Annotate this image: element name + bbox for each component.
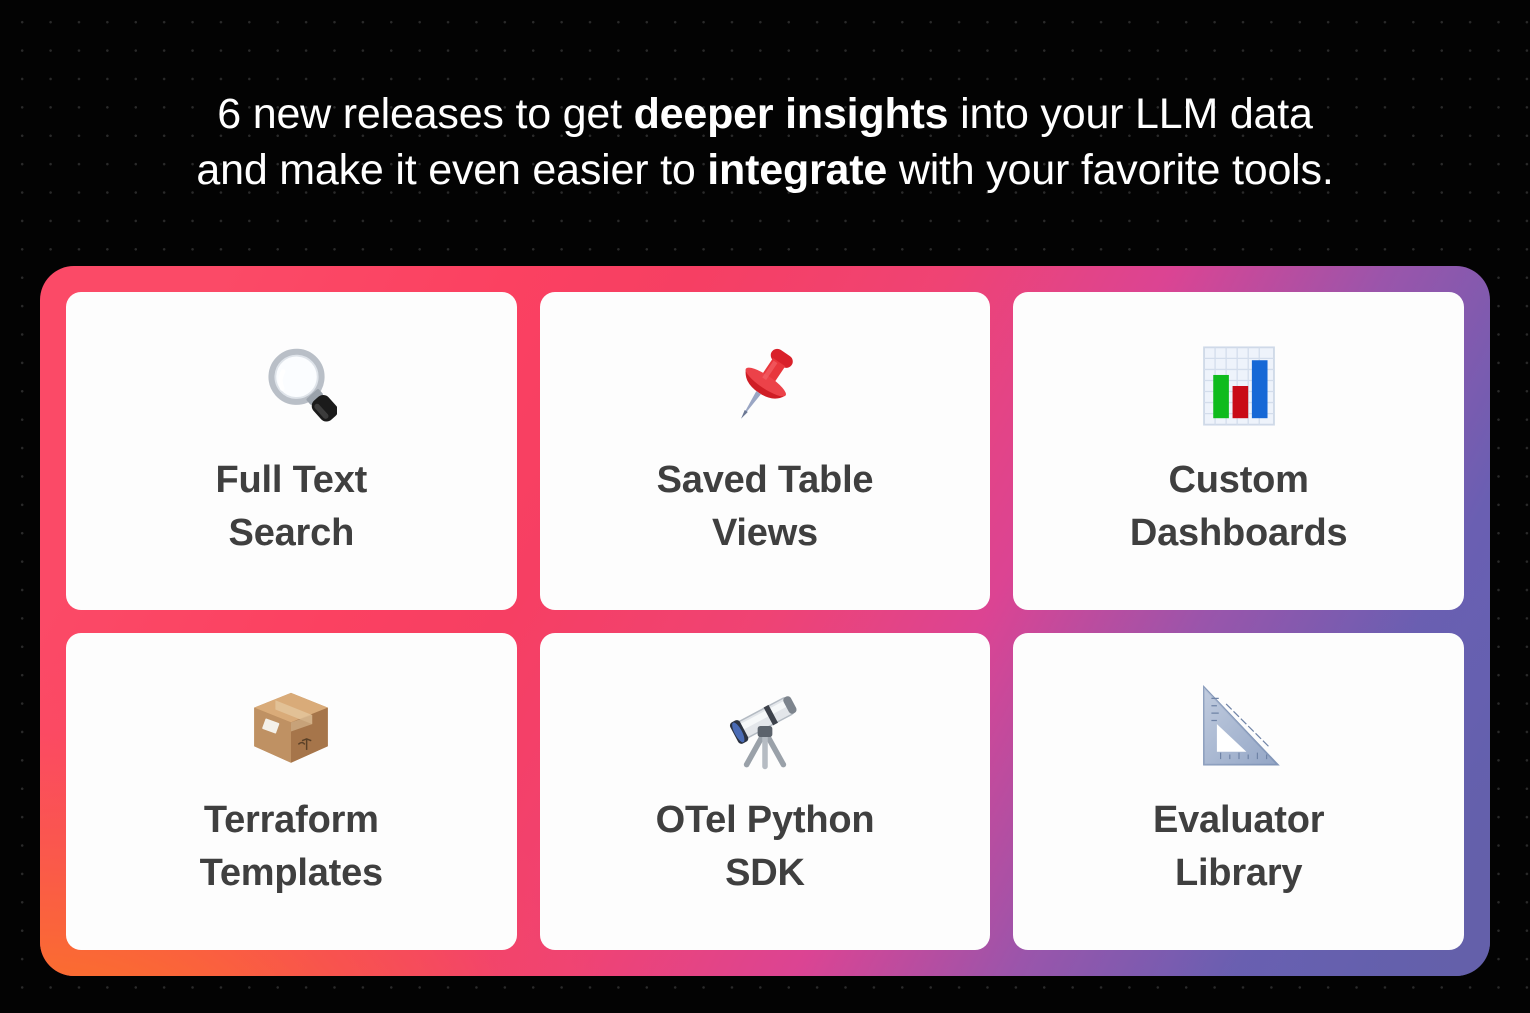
feature-card-evaluator-library[interactable]: Evaluator Library <box>1013 633 1464 951</box>
feature-card-full-text-search[interactable]: Full Text Search <box>66 292 517 610</box>
pushpin-icon <box>719 334 811 438</box>
headline-line-2-prefix: and make it even easier to <box>196 146 707 194</box>
headline-line-2-suffix: with your favorite tools. <box>887 146 1334 194</box>
headline-emphasis-integrate: integrate <box>707 146 887 194</box>
feature-grid: Full Text Search <box>66 292 1464 950</box>
feature-label: Terraform Templates <box>200 794 383 900</box>
feature-panel: Full Text Search <box>40 266 1490 976</box>
feature-card-saved-table-views[interactable]: Saved Table Views <box>540 292 991 610</box>
magnifying-glass-icon <box>245 334 337 438</box>
headline-line-1-suffix: into your LLM data <box>948 90 1312 138</box>
feature-label: Saved Table Views <box>657 454 874 560</box>
feature-card-terraform-templates[interactable]: Terraform Templates <box>66 633 517 951</box>
feature-card-custom-dashboards[interactable]: Custom Dashboards <box>1013 292 1464 610</box>
headline-line-1-prefix: 6 new releases to get <box>217 90 633 138</box>
headline-line-2: and make it even easier to integrate wit… <box>65 142 1465 198</box>
telescope-icon <box>719 674 811 778</box>
feature-card-otel-python-sdk[interactable]: OTel Python SDK <box>540 633 991 951</box>
headline: 6 new releases to get deeper insights in… <box>65 86 1465 198</box>
feature-label: Full Text Search <box>216 454 368 560</box>
promo-graphic: 6 new releases to get deeper insights in… <box>0 0 1530 1013</box>
package-box-icon <box>245 674 337 778</box>
headline-emphasis-deeper-insights: deeper insights <box>634 90 949 138</box>
feature-label: OTel Python SDK <box>656 794 875 900</box>
triangular-ruler-icon <box>1193 674 1285 778</box>
bar-chart-icon <box>1193 334 1285 438</box>
feature-label: Custom Dashboards <box>1130 454 1348 560</box>
headline-line-1: 6 new releases to get deeper insights in… <box>65 86 1465 142</box>
feature-label: Evaluator Library <box>1153 794 1324 900</box>
